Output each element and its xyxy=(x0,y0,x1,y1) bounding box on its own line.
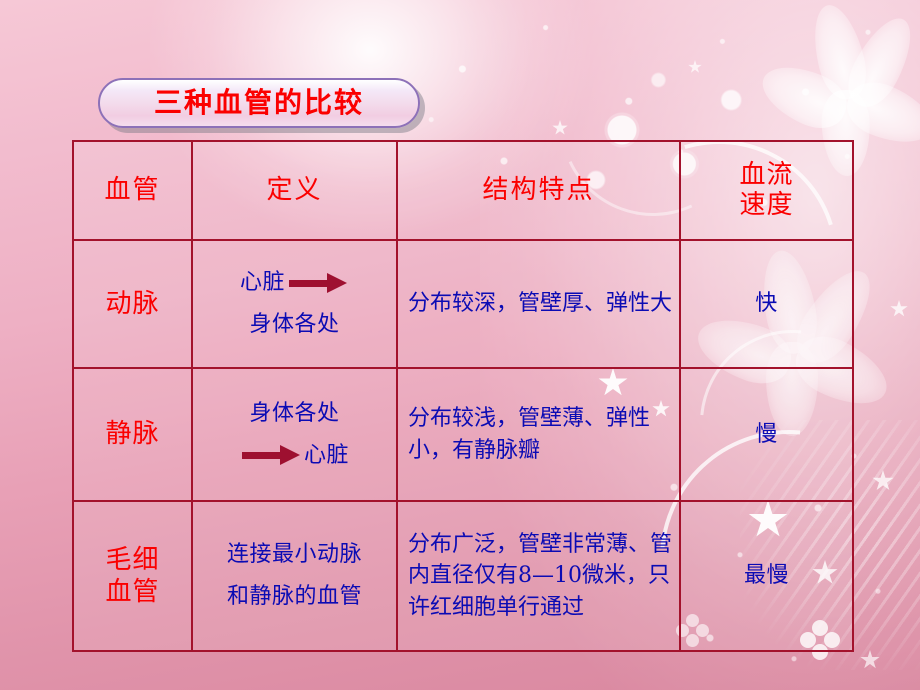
page-title: 三种血管的比较 xyxy=(154,89,364,117)
structure-text: 分布广泛，管壁非常薄、管内直径仅有8—10微米，只许红细胞单行通过 xyxy=(404,529,673,623)
slide-canvas: 三种血管的比较 血管 定义 结构特点 血流 速度 xyxy=(0,0,920,690)
flow-line-source: 心脏 xyxy=(199,262,390,304)
definition-line1: 连接最小动脉 xyxy=(199,534,390,576)
vessel-comparison-table: 血管 定义 结构特点 血流 速度 动脉 xyxy=(72,140,854,652)
structure-text: 分布较浅，管壁薄、弹性小，有静脉瓣 xyxy=(404,403,673,465)
cell-structure-artery: 分布较深，管壁厚、弹性大 xyxy=(397,240,680,368)
cell-vessel-artery: 动脉 xyxy=(73,240,192,368)
cell-speed-artery: 快 xyxy=(680,240,853,368)
star-icon xyxy=(860,650,880,670)
cell-speed-capillary: 最慢 xyxy=(680,501,853,651)
table-header-cell-definition: 定义 xyxy=(192,141,397,240)
column-header-speed-line2: 速度 xyxy=(687,191,846,220)
table-header-cell-speed: 血流 速度 xyxy=(680,141,853,240)
cell-structure-vein: 分布较浅，管壁薄、弹性小，有静脉瓣 xyxy=(397,368,680,501)
column-header-structure: 结构特点 xyxy=(404,176,673,205)
definition-label: 连接最小动脉 xyxy=(227,534,362,576)
flow-target-label: 心脏 xyxy=(304,435,349,477)
arrow-right-icon xyxy=(289,273,347,293)
arrow-right-icon xyxy=(242,445,300,465)
cell-definition-artery: 心脏 身体各处 xyxy=(192,240,397,368)
slide-title-banner: 三种血管的比较 xyxy=(98,78,420,128)
star-icon xyxy=(872,470,894,492)
table-row: 静脉 身体各处 心脏 分布较浅，管壁薄、弹性小，有静脉瓣 xyxy=(73,368,853,501)
flow-line-target: 心脏 xyxy=(199,435,390,477)
column-header-definition: 定义 xyxy=(199,176,390,205)
speed-text: 快 xyxy=(687,288,846,320)
cell-definition-vein: 身体各处 心脏 xyxy=(192,368,397,501)
cell-vessel-capillary: 毛细 血管 xyxy=(73,501,192,651)
star-icon xyxy=(688,60,702,74)
star-icon xyxy=(552,120,568,136)
star-icon xyxy=(890,300,908,318)
definition-label: 和静脉的血管 xyxy=(227,576,362,618)
cell-structure-capillary: 分布广泛，管壁非常薄、管内直径仅有8—10微米，只许红细胞单行通过 xyxy=(397,501,680,651)
cell-speed-vein: 慢 xyxy=(680,368,853,501)
flow-line-target: 身体各处 xyxy=(199,304,390,346)
speed-text: 最慢 xyxy=(687,560,846,592)
table-row: 动脉 心脏 身体各处 分布较深，管壁厚、弹性大 xyxy=(73,240,853,368)
flow-target-label: 身体各处 xyxy=(249,304,339,346)
flow-source-label: 身体各处 xyxy=(249,393,339,435)
table-header-row: 血管 定义 结构特点 血流 速度 xyxy=(73,141,853,240)
flow-line-source: 身体各处 xyxy=(199,393,390,435)
cell-vessel-vein: 静脉 xyxy=(73,368,192,501)
definition-line2: 和静脉的血管 xyxy=(199,576,390,618)
table-header-cell-structure: 结构特点 xyxy=(397,141,680,240)
structure-text: 分布较深，管壁厚、弹性大 xyxy=(404,288,673,319)
vessel-name-line1: 毛细 xyxy=(80,544,185,577)
table-row: 毛细 血管 连接最小动脉 和静脉的血管 分布广泛，管壁非常薄、管内直径仅有8—1… xyxy=(73,501,853,651)
column-header-speed-line1: 血流 xyxy=(687,161,846,190)
vessel-name: 静脉 xyxy=(80,418,185,451)
vessel-name: 动脉 xyxy=(80,288,185,321)
flow-source-label: 心脏 xyxy=(240,262,285,304)
vessel-name-line2: 血管 xyxy=(80,576,185,609)
table-header-cell-vessel: 血管 xyxy=(73,141,192,240)
speed-text: 慢 xyxy=(687,419,846,451)
cell-definition-capillary: 连接最小动脉 和静脉的血管 xyxy=(192,501,397,651)
column-header-vessel: 血管 xyxy=(80,176,185,205)
